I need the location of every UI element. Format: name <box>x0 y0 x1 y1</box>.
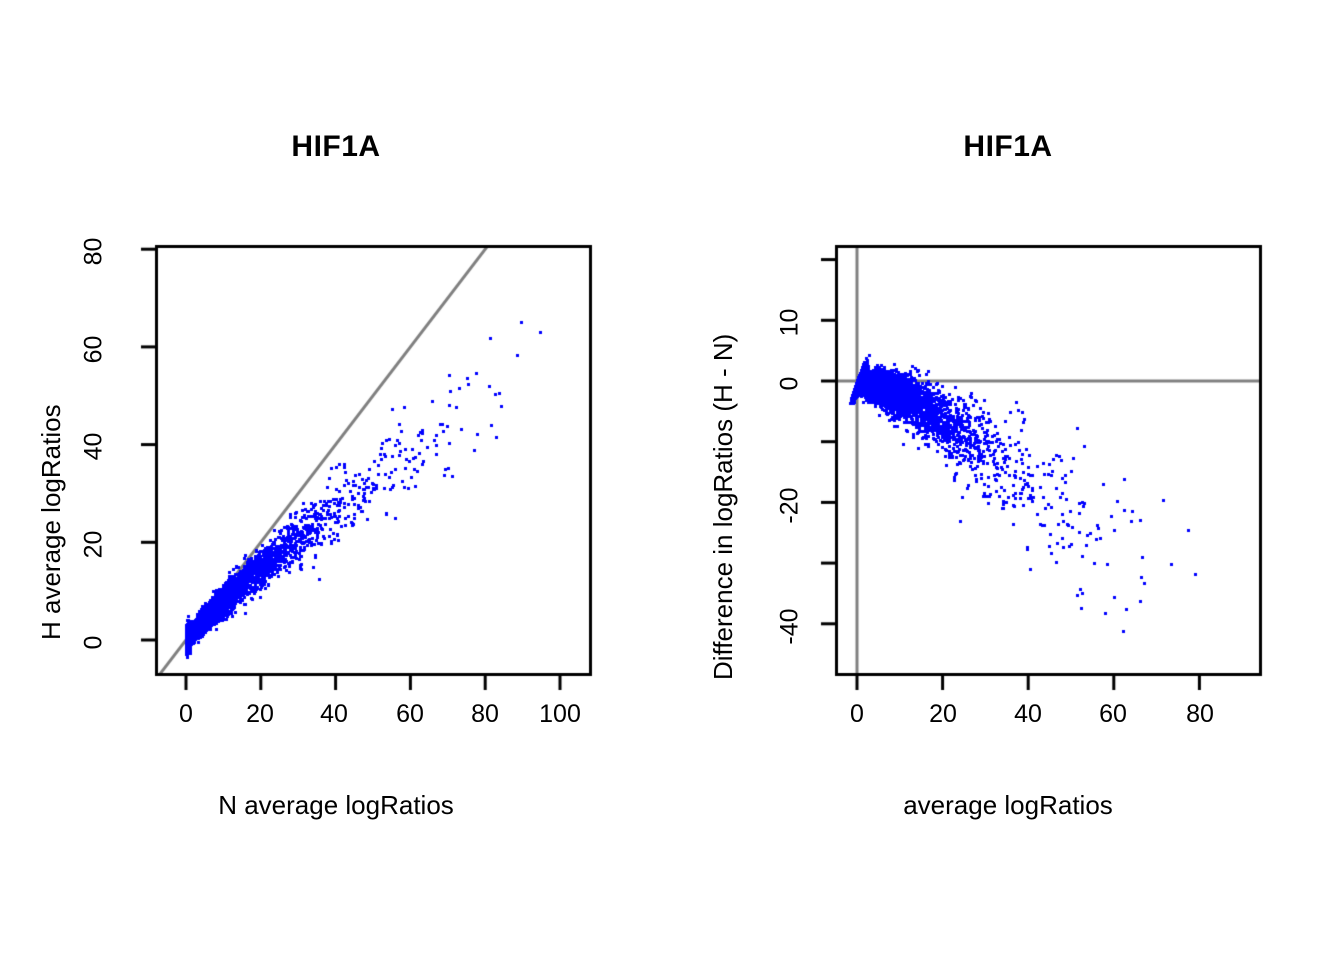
xaxis-label-left: N average logRatios <box>0 790 672 821</box>
ytick-label-left-80: 80 <box>80 232 109 272</box>
ytick-label-left-0: 0 <box>80 623 109 663</box>
yaxis-label-right: Difference in logRatios (H - N) <box>708 334 739 680</box>
ytick-label-right-minus40: -40 <box>776 599 805 655</box>
ytick-label-right-10: 10 <box>776 303 805 343</box>
panel-title-right: HIF1A <box>672 130 1344 164</box>
xtick-label-left-100: 100 <box>539 700 581 729</box>
yaxis-label-left: H average logRatios <box>36 404 67 640</box>
xtick-label-right-80: 80 <box>1186 700 1214 729</box>
ytick-label-right-minus20: -20 <box>776 478 805 534</box>
scatter-panel-right: HIF1A 0 20 40 60 80 10 0 -20 -40 average… <box>672 0 1344 960</box>
xtick-label-right-20: 20 <box>929 700 957 729</box>
xaxis-label-right: average logRatios <box>672 790 1344 821</box>
xtick-label-left-0: 0 <box>179 700 193 729</box>
ytick-label-left-40: 40 <box>80 427 109 467</box>
ytick-label-left-60: 60 <box>80 330 109 370</box>
figure-canvas-area: HIF1A 0 20 40 60 80 100 0 20 40 60 80 N … <box>0 0 1344 960</box>
panel-title-left: HIF1A <box>0 130 672 164</box>
xtick-label-left-20: 20 <box>246 700 274 729</box>
scatter-panel-left: HIF1A 0 20 40 60 80 100 0 20 40 60 80 N … <box>0 0 672 960</box>
xtick-label-left-60: 60 <box>396 700 424 729</box>
xtick-label-right-0: 0 <box>850 700 864 729</box>
ytick-label-right-0: 0 <box>776 364 805 404</box>
xtick-label-left-40: 40 <box>320 700 348 729</box>
xtick-label-left-80: 80 <box>471 700 499 729</box>
xtick-label-right-40: 40 <box>1014 700 1042 729</box>
ytick-label-left-20: 20 <box>80 525 109 565</box>
xtick-label-right-60: 60 <box>1099 700 1127 729</box>
